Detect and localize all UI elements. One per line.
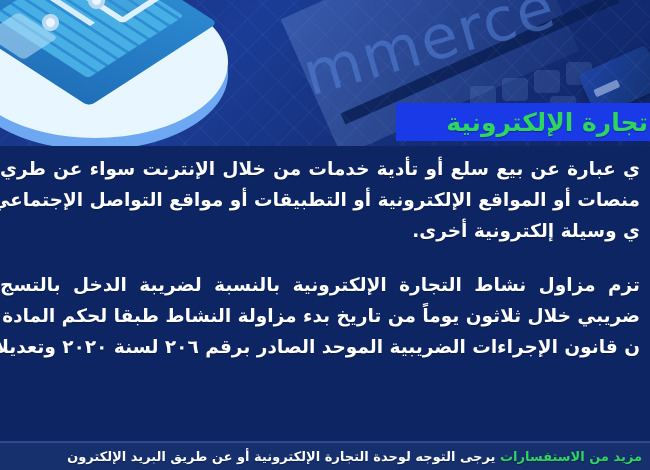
footer-text: مزيد من الاستفسارات يرجى التوجه لوحدة ال… <box>67 449 642 467</box>
page-title: تجارة الإلكترونية <box>446 110 648 135</box>
shopping-cart-icon <box>36 0 166 56</box>
paragraph-registration-obligation: تزم مزاول نشاط التجارة الإلكترونية بالنس… <box>0 270 640 363</box>
page-title-banner: تجارة الإلكترونية <box>396 103 650 141</box>
cart-wheel <box>42 14 59 31</box>
paragraph-definition: ي عبارة عن بيع سلع أو تأدية خدمات من خلا… <box>0 154 640 247</box>
body-content: ي عبارة عن بيع سلع أو تأدية خدمات من خلا… <box>0 146 650 443</box>
footer-highlight-text: مزيد من الاستفسارات <box>500 450 642 465</box>
ecommerce-infographic-poster: mmerce تجارة الإلكترونية ي عبارة عن ب <box>0 0 650 470</box>
paragraph-line: ضريبي خلال ثلاثون يوماً من تاريخ بدء مزا… <box>0 301 640 332</box>
paragraph-line: تزم مزاول نشاط التجارة الإلكترونية بالنس… <box>0 270 640 301</box>
footer-bar: مزيد من الاستفسارات يرجى التوجه لوحدة ال… <box>0 443 650 470</box>
paragraph-line: منصات أو المواقع الإلكترونية أو التطبيقا… <box>0 185 640 216</box>
shopping-cart-laptop-illustration <box>0 0 262 146</box>
footer-rest-text: يرجى التوجه لوحدة التجارة الإلكترونية أو… <box>67 450 500 465</box>
paragraph-line: ي وسيلة إلكترونية أخرى. <box>0 216 640 247</box>
paragraph-line: ي عبارة عن بيع سلع أو تأدية خدمات من خلا… <box>0 154 640 185</box>
paragraph-line: ن قانون الإجراءات الضريبية الموحد الصادر… <box>0 332 640 363</box>
